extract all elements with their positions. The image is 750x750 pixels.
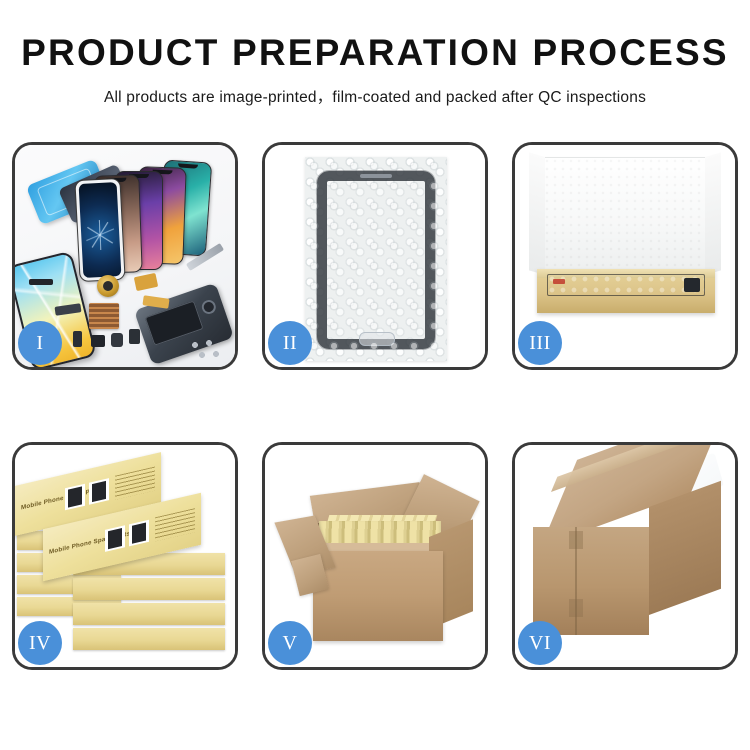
step-badge-6: VI [518,621,562,665]
box-phone-thumbnails [65,478,109,510]
page-header: PRODUCT PREPARATION PROCESS All products… [0,0,750,107]
box-spec-lines [115,467,155,500]
carton-tab-upper [569,531,583,549]
process-step-panel-1: I [12,142,238,370]
page-subtitle: All products are image-printed，film-coat… [0,85,750,107]
kraft-box-tray [537,269,715,313]
carton-tab-lower [569,599,583,617]
box-spec-lines [155,508,195,541]
home-button-cutout [359,332,395,346]
box-phone-thumbnails [105,520,149,552]
step-badge-5: V [268,621,312,665]
wrapped-screen-in-tray [547,274,705,296]
carton-front-face [533,527,649,635]
process-step-panel-6: VI [512,442,738,670]
small-part-3 [111,333,123,347]
step-badge-2: II [268,321,312,365]
open-shipping-carton [279,479,475,647]
step-badge-4: IV [18,621,62,665]
screen-glass-panel [317,171,435,349]
bubble-wrap-sheet [305,157,447,361]
process-step-panel-5: V [262,442,488,670]
small-part-4 [129,329,140,344]
process-step-grid: I II III [12,142,738,670]
small-part-1 [73,331,82,347]
phone-blue-display [74,178,125,282]
stacked-box [73,628,225,650]
process-step-panel-4: Mobile Phone Spare Parts Mobile Phone Sp… [12,442,238,670]
screws-group [189,339,223,361]
copper-coil-part [97,275,119,297]
step-badge-1: I [18,321,62,365]
earpiece-slot [360,174,392,178]
chip-grid-part [89,303,119,329]
page-title: PRODUCT PREPARATION PROCESS [0,34,750,73]
process-step-panel-2: II [262,142,488,370]
small-part-2 [91,335,105,347]
foam-lid [543,157,707,279]
dark-bar-part [29,279,53,285]
stacked-box [73,578,225,600]
stacked-box [73,603,225,625]
process-step-panel-3: III [512,142,738,370]
sealed-shipping-carton [533,473,723,643]
foam-texture [543,157,707,279]
step-badge-3: III [518,321,562,365]
